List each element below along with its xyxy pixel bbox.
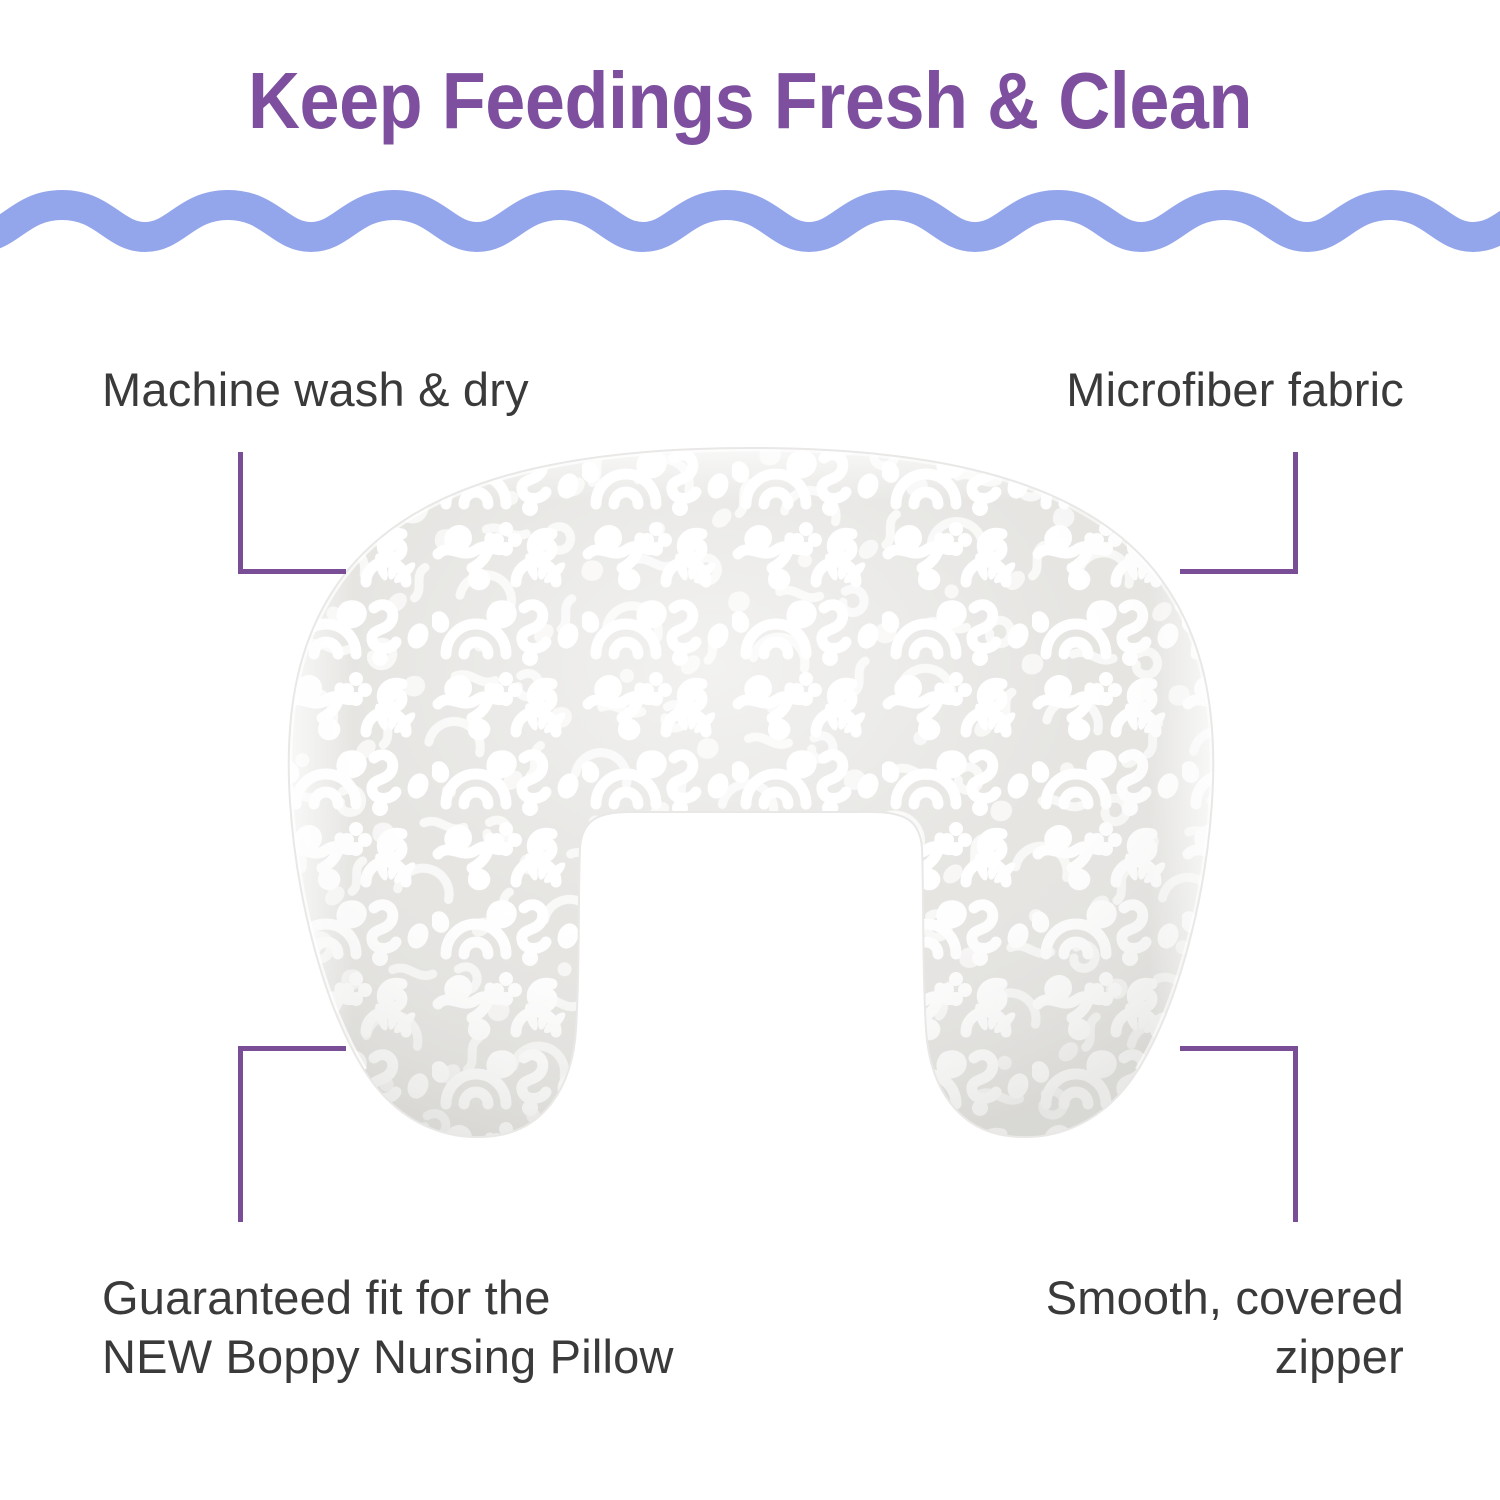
connector-microfiber-fabric [1180,452,1298,574]
connector-segment-horizontal [1180,1046,1298,1051]
callout-label-machine-wash: Machine wash & dry [102,360,529,419]
pillow-body [282,442,1220,1142]
connector-segment-horizontal [238,1046,346,1051]
infographic-canvas: Keep Feedings Fresh & Clean [0,0,1500,1500]
callout-label-guaranteed-fit: Guaranteed fit for the NEW Boppy Nursing… [102,1268,674,1386]
connector-segment-vertical [238,452,243,574]
pillow-shading [282,442,1220,1142]
page-title: Keep Feedings Fresh & Clean [75,52,1425,150]
wavy-divider-svg [0,185,1500,275]
connector-segment-horizontal [1180,569,1298,574]
connector-segment-horizontal [238,569,346,574]
wave-path [0,205,1500,237]
connector-covered-zipper [1180,1046,1298,1222]
connector-segment-vertical [1293,452,1298,574]
callout-label-covered-zipper: Smooth, covered zipper [1046,1268,1404,1386]
connector-machine-wash [238,452,346,574]
wavy-divider [0,185,1500,275]
connector-guaranteed-fit [238,1046,346,1222]
callout-label-microfiber-fabric: Microfiber fabric [1066,360,1404,419]
connector-segment-vertical [1293,1046,1298,1222]
product-image [282,442,1220,1142]
pillow-svg [282,442,1220,1142]
connector-segment-vertical [238,1046,243,1222]
